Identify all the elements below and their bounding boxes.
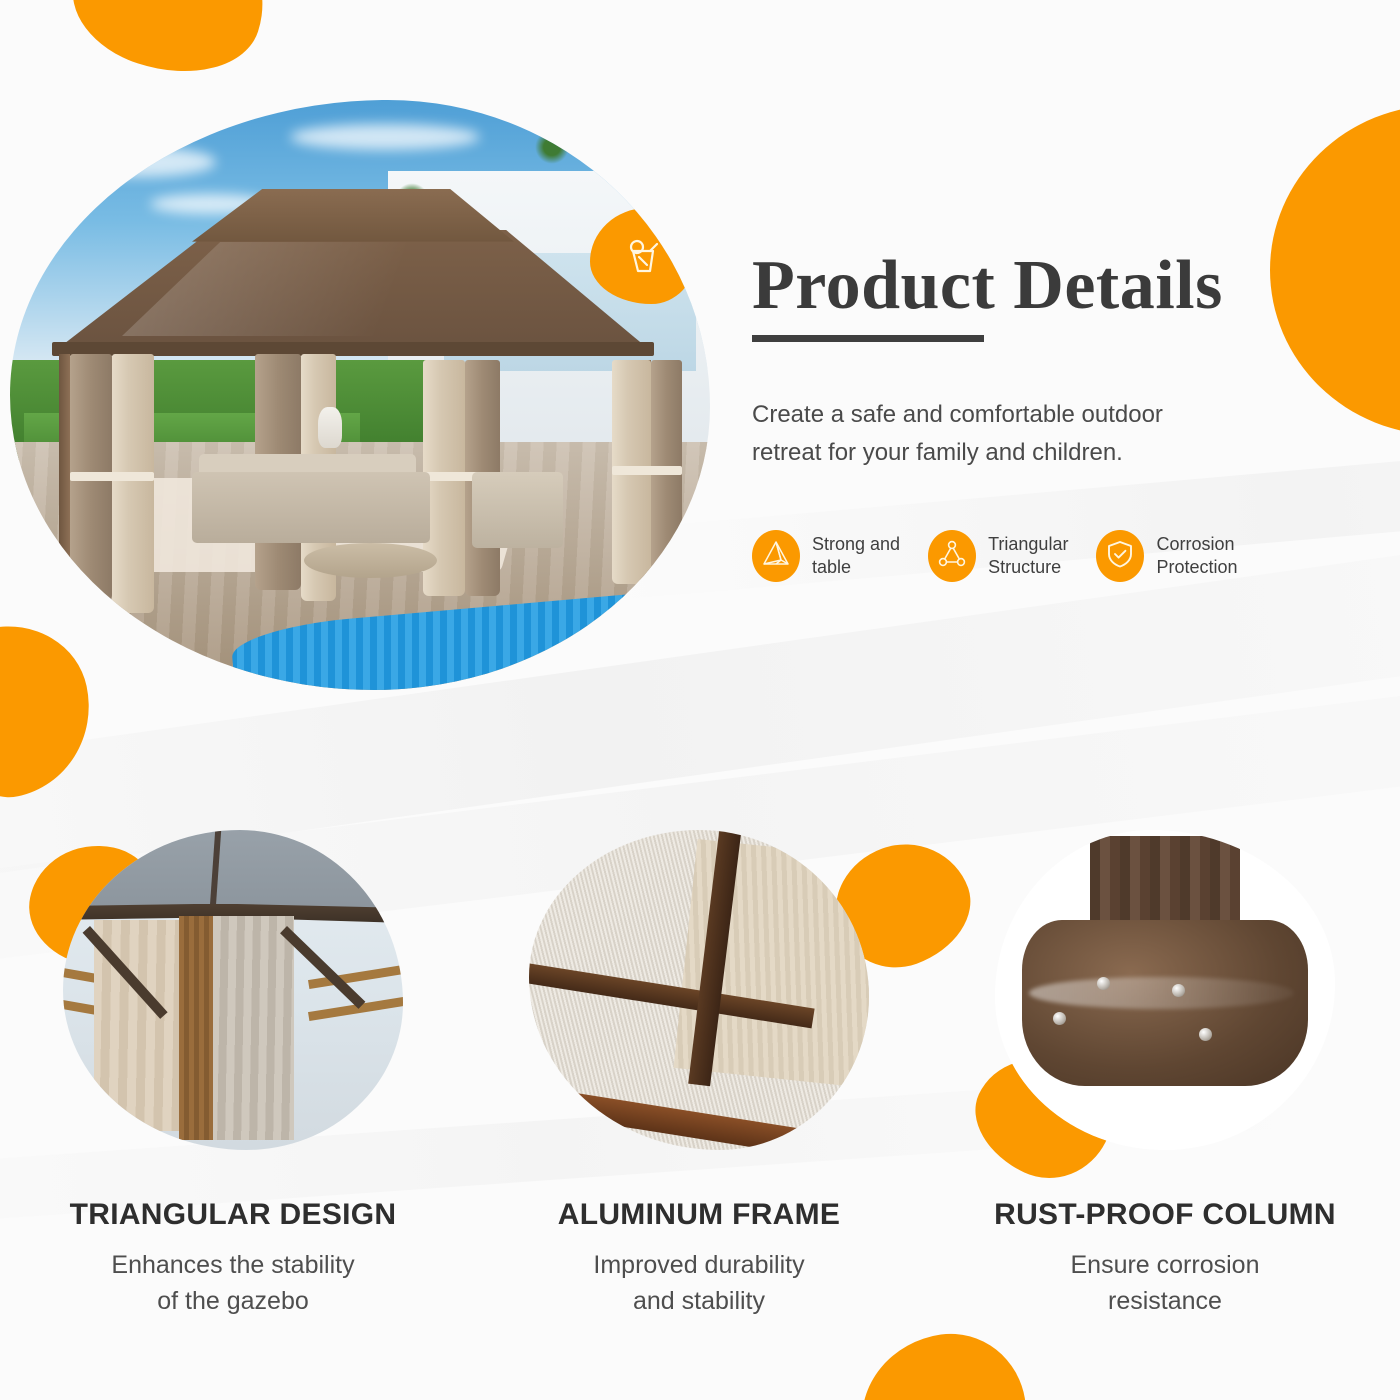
feature-badge-corrosion-protection: Corrosion Protection — [1096, 530, 1237, 582]
feature-card-aluminum-frame: ALUMINUM FRAME Improved durability and s… — [466, 830, 932, 1319]
feature-card-triangular-design: TRIANGULAR DESIGN Enhances the stability… — [0, 830, 466, 1319]
pyramid-icon — [761, 539, 791, 574]
cloud — [66, 147, 216, 177]
corner-post — [179, 916, 213, 1140]
feature-badge-strong-and-table: Strong and table — [752, 530, 900, 582]
cloud — [290, 124, 480, 150]
details-panel: Product Details Create a safe and comfor… — [752, 250, 1332, 495]
page-title: Product Details — [752, 250, 1332, 321]
card-text: Ensure corrosion resistance — [1071, 1248, 1260, 1319]
page-subtitle: Create a safe and comfortable outdoor re… — [752, 396, 1182, 470]
card-photo-triangular-design — [63, 830, 403, 1150]
card-text: Improved durability and stability — [593, 1248, 804, 1319]
shield-check-icon — [1105, 539, 1135, 574]
sofa — [192, 472, 430, 543]
feature-card-rust-proof-column: RUST-PROOF COLUMN Ensure corrosion resis… — [932, 830, 1398, 1319]
badge-icon-wrap — [1096, 530, 1144, 582]
product-details-page: Product Details Create a safe and comfor… — [0, 0, 1400, 1400]
armchair — [472, 472, 563, 549]
curtain-tieback — [70, 472, 154, 481]
coffee-table — [304, 543, 437, 578]
floor-vase — [318, 407, 342, 448]
feature-card-row: TRIANGULAR DESIGN Enhances the stability… — [0, 830, 1400, 1319]
feature-badge-triangular-structure: Triangular Structure — [928, 530, 1068, 582]
curtain-tieback — [612, 466, 682, 475]
gazebo-post — [59, 354, 70, 590]
decorative-blob-top-left — [56, 0, 283, 96]
palm-tree — [535, 130, 569, 164]
cocktail-drink-icon — [620, 233, 666, 279]
card-title: TRIANGULAR DESIGN — [70, 1198, 397, 1232]
badge-label: Corrosion Protection — [1156, 533, 1237, 579]
badge-label: Strong and table — [812, 533, 900, 579]
badge-icon-wrap — [752, 530, 800, 582]
bolt — [1172, 984, 1185, 997]
feature-badge-row: Strong and table Triangular Structure — [752, 530, 1352, 582]
hero-image-gazebo — [10, 100, 710, 690]
card-text: Enhances the stability of the gazebo — [111, 1248, 354, 1319]
card-title: RUST-PROOF COLUMN — [994, 1198, 1336, 1232]
curtain-right — [213, 916, 295, 1140]
badge-label: Triangular Structure — [988, 533, 1068, 579]
hero-photo — [10, 100, 710, 690]
gazebo-curtain — [112, 354, 154, 614]
decorative-blob-bottom — [851, 1324, 1034, 1400]
base-highlight — [1029, 977, 1294, 1009]
card-title: ALUMINUM FRAME — [558, 1198, 841, 1232]
card-photo-aluminum-frame — [529, 830, 869, 1150]
card-photo-rust-proof-column — [995, 830, 1335, 1150]
triangle-nodes-icon — [937, 539, 967, 574]
title-underline — [752, 335, 984, 342]
badge-icon-wrap — [928, 530, 976, 582]
